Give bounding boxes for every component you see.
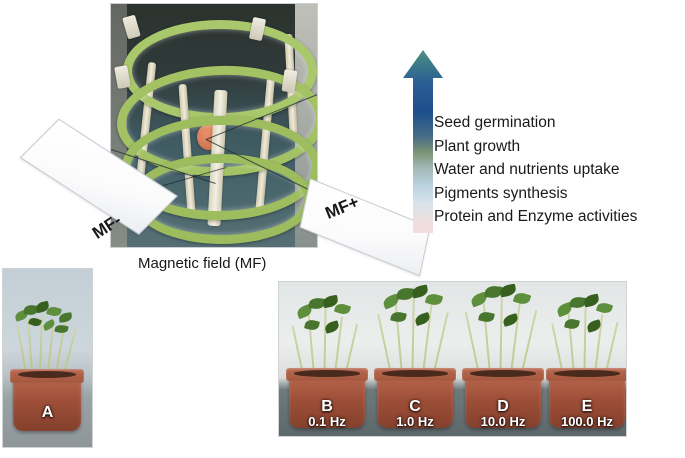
pot-frequency-label: 100.0 Hz [541, 414, 627, 429]
pot-letter-label: A [3, 404, 92, 422]
leaf [304, 318, 320, 331]
leaf [596, 301, 613, 315]
pot-frequency-label: 10.0 Hz [457, 414, 549, 429]
control-plant-photo: A [2, 268, 93, 448]
magnetic-field-caption: Magnetic field (MF) [138, 255, 266, 272]
effect-item: Protein and Enzyme activities [434, 205, 685, 229]
pot-frequency-label: 0.1 Hz [281, 414, 373, 429]
effect-item: Seed germination [434, 111, 685, 135]
seedling-stem [17, 326, 27, 374]
leaf [390, 311, 407, 324]
leaf [58, 312, 72, 323]
effect-item: Water and nutrients uptake [434, 158, 685, 182]
pot-soil [294, 370, 359, 377]
leaf [334, 302, 351, 316]
leaf [513, 291, 532, 306]
pot-soil [554, 370, 619, 377]
seedling-stem [63, 328, 77, 373]
effect-item: Pigments synthesis [434, 182, 685, 206]
leaf [425, 292, 443, 307]
effect-item: Plant growth [434, 135, 685, 159]
pot-soil [470, 370, 535, 377]
effects-list: Seed germination Plant growth Water and … [434, 111, 685, 229]
leaf [54, 324, 68, 335]
leaf [478, 310, 495, 323]
treated-plants-photo: B 0.1 Hz C 1.0 Hz [278, 281, 627, 437]
pot-soil [382, 370, 447, 377]
seedling-stem [27, 319, 33, 373]
pot-frequency-label: 1.0 Hz [369, 414, 461, 429]
magnetic-field-plant-growth-figure: MF- MF+ Magnetic field (MF) [0, 0, 685, 458]
leaf [564, 318, 580, 331]
